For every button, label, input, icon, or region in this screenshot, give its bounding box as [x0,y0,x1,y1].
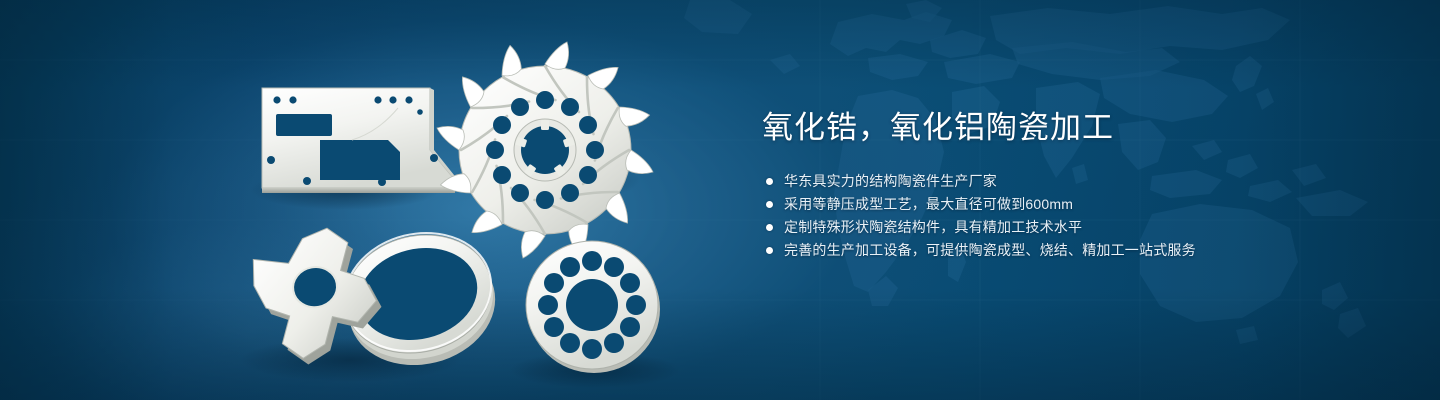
bullet-dot-icon [766,224,773,231]
banner-copy-block: 氧化锆，氧化铝陶瓷加工 华东具实力的结构陶瓷件生产厂家 采用等静压成型工艺，最大… [762,108,1382,262]
list-item: 采用等静压成型工艺，最大直径可做到600mm [762,193,1382,216]
ceramic-parts-photo-group [0,0,760,400]
list-item: 完善的生产加工设备，可提供陶瓷成型、烧结、精加工一站式服务 [762,239,1382,262]
page-title: 氧化锆，氧化铝陶瓷加工 [762,108,1382,148]
bullet-dot-icon [766,178,773,185]
feature-text: 定制特殊形状陶瓷结构件，具有精加工技术水平 [784,216,1082,239]
feature-list: 华东具实力的结构陶瓷件生产厂家 采用等静压成型工艺，最大直径可做到600mm 定… [762,170,1382,262]
list-item: 定制特殊形状陶瓷结构件，具有精加工技术水平 [762,216,1382,239]
feature-text: 华东具实力的结构陶瓷件生产厂家 [784,170,997,193]
list-item: 华东具实力的结构陶瓷件生产厂家 [762,170,1382,193]
feature-text: 采用等静压成型工艺，最大直径可做到600mm [784,193,1073,216]
bullet-dot-icon [766,201,773,208]
feature-text: 完善的生产加工设备，可提供陶瓷成型、烧结、精加工一站式服务 [784,239,1196,262]
hero-banner: 氧化锆，氧化铝陶瓷加工 华东具实力的结构陶瓷件生产厂家 采用等静压成型工艺，最大… [0,0,1440,400]
ceramic-impeller-part [437,42,653,258]
ceramic-plate-part [262,88,458,193]
ceramic-perforated-disc-part [526,241,660,373]
bullet-dot-icon [766,247,773,254]
